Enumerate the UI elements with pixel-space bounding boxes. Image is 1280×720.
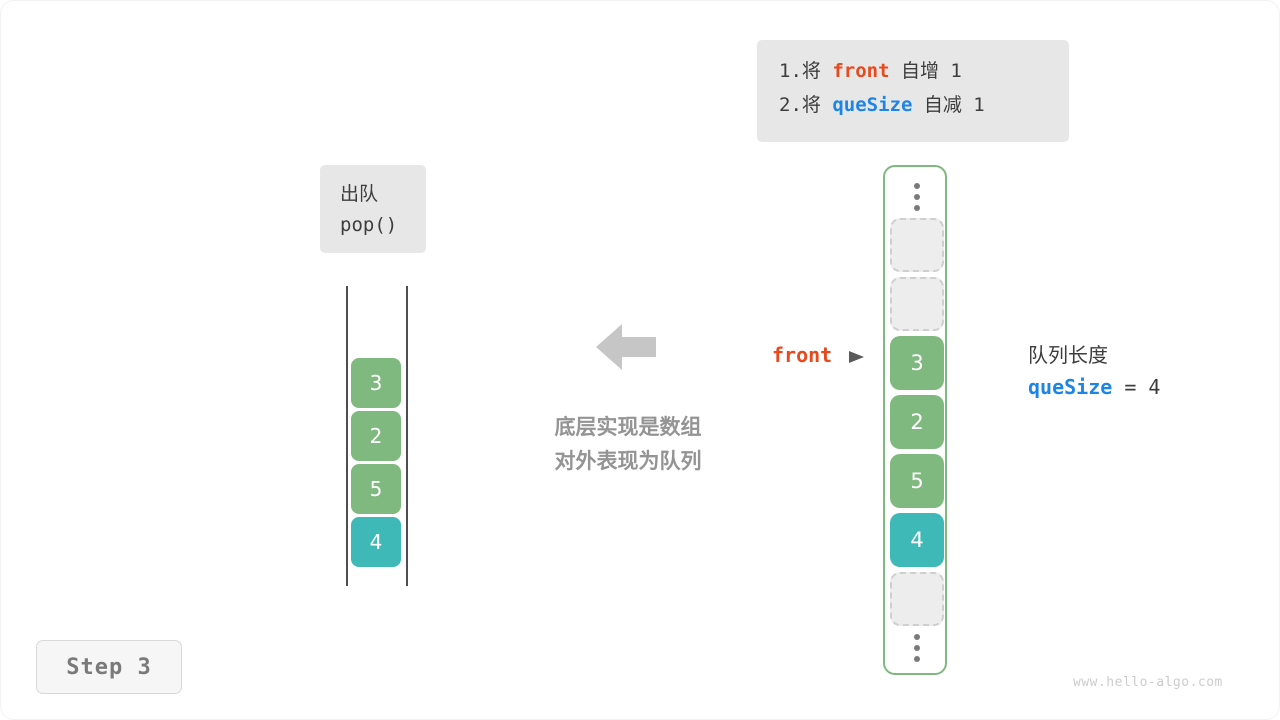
quesize-equals: =	[1112, 375, 1148, 399]
operation-note-box: 1.将 front 自增 1 2.将 queSize 自减 1	[757, 40, 1069, 142]
queue-cell: 2	[351, 411, 401, 461]
operation-label-box: 出队 pop()	[320, 165, 426, 253]
quesize-name: queSize	[1028, 375, 1112, 399]
array-slot	[890, 277, 944, 331]
queue-cell: 4	[351, 517, 401, 567]
array-slot	[890, 218, 944, 272]
logical-queue: 3 2 5 4	[351, 358, 401, 567]
triangle-right-icon	[848, 349, 866, 365]
operation-title: 出队	[340, 179, 426, 210]
queue-cell: 3	[351, 358, 401, 408]
array-slot	[890, 572, 944, 626]
note-2-index: 2.	[779, 94, 802, 116]
queue-rail-left	[346, 286, 348, 586]
watermark: www.hello-algo.com	[1073, 675, 1223, 690]
queue-rail-right	[406, 286, 408, 586]
note-1-index: 1.	[779, 60, 802, 82]
quesize-annotation: 队列长度 queSize = 4	[1028, 340, 1160, 404]
array-slot: 5	[890, 454, 944, 508]
front-pointer-label: front	[772, 343, 832, 367]
note-1-prefix: 将	[802, 60, 832, 82]
vertical-ellipsis-bottom-icon	[885, 634, 949, 662]
note-1-keyword: front	[832, 60, 889, 82]
center-caption-line-2: 对外表现为队列	[528, 444, 728, 478]
quesize-expression: queSize = 4	[1028, 370, 1160, 404]
array-slot: 4	[890, 513, 944, 567]
queue-cell: 5	[351, 464, 401, 514]
operation-method: pop()	[340, 210, 426, 241]
center-caption-line-1: 底层实现是数组	[528, 410, 728, 444]
note-2-suffix: 自减 1	[912, 94, 984, 116]
vertical-ellipsis-top-icon	[885, 183, 949, 211]
note-1-suffix: 自增 1	[890, 60, 962, 82]
quesize-value: 4	[1148, 375, 1160, 399]
note-line-1: 1.将 front 自增 1	[779, 54, 1047, 88]
note-line-2: 2.将 queSize 自减 1	[779, 88, 1047, 122]
note-2-prefix: 将	[802, 94, 832, 116]
array-container: 3 2 5 4	[883, 165, 947, 675]
array-slot: 2	[890, 395, 944, 449]
array-slot: 3	[890, 336, 944, 390]
arrow-left-icon	[596, 322, 656, 372]
center-caption: 底层实现是数组 对外表现为队列	[528, 410, 728, 478]
quesize-title: 队列长度	[1028, 340, 1160, 370]
note-2-keyword: queSize	[832, 94, 912, 116]
step-badge: Step 3	[36, 640, 182, 694]
diagram-canvas: 1.将 front 自增 1 2.将 queSize 自减 1 出队 pop()…	[0, 0, 1280, 720]
